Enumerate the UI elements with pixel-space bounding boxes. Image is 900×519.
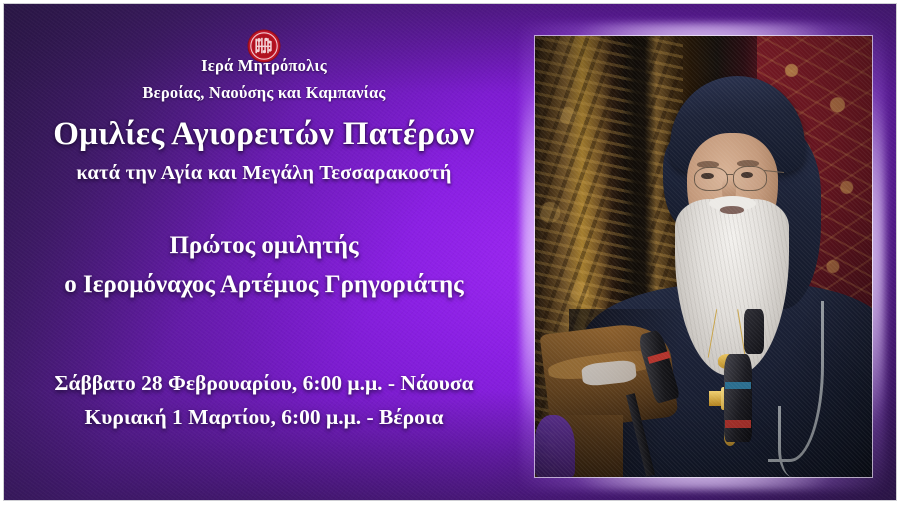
speaker-label: Πρώτος ομιλητής: [4, 232, 524, 260]
organization-line-1: Ιερά Μητρόπολις: [4, 56, 524, 76]
schedule-line-2: Κυριακή 1 Μαρτίου, 6:00 μ.μ. - Βέροια: [4, 405, 524, 430]
text-column: Ιερά Μητρόπολις Βεροίας, Ναούσης και Καμ…: [4, 4, 524, 501]
poster-title: Ομιλίες Αγιορειτών Πατέρων: [4, 116, 524, 153]
speaker-photo: [535, 36, 872, 477]
poster-subtitle: κατά την Αγία και Μεγάλη Τεσσαρακοστή: [4, 162, 524, 185]
schedule-line-1: Σάββατο 28 Φεβρουαρίου, 6:00 μ.μ. - Νάου…: [4, 371, 524, 396]
poster-frame: Ιερά Μητρόπολις Βεροίας, Ναούσης και Καμ…: [3, 3, 897, 501]
poster-root: Ιερά Μητρόπολις Βεροίας, Ναούσης και Καμ…: [0, 0, 900, 519]
photo-scene: [535, 36, 872, 477]
organization-line-2: Βεροίας, Ναούσης και Καμπανίας: [4, 83, 524, 103]
photo-grain: [535, 36, 872, 477]
speaker-name: ο Ιερομόναχος Αρτέμιος Γρηγοριάτης: [4, 271, 524, 299]
